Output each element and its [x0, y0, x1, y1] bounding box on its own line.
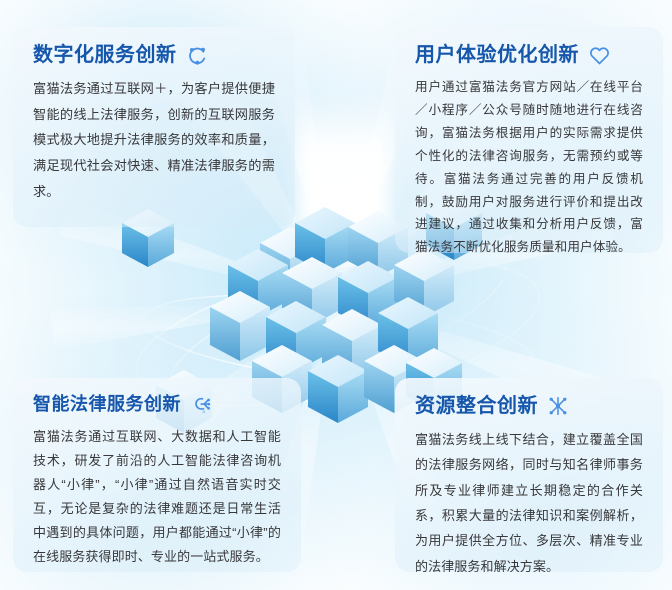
card-title: 数字化服务创新	[33, 43, 177, 67]
card-body: 富猫法务通过互联网＋，为客户提供便捷智能的线上法律服务，创新的互联网服务模式极大…	[33, 76, 275, 205]
card-body: 富猫法务线上线下结合，建立覆盖全国的法律服务网络，同时与知名律师事务所及专业律师…	[415, 427, 643, 572]
cloud-ai-icon	[190, 394, 214, 416]
card-intelligent-legal-service-innovation: 智能法律服务创新 富猫法务通过互联网、大数据和人工智能技术，研发了前沿的人工智能…	[13, 378, 301, 572]
card-user-experience-innovation: 用户体验优化创新 用户通过富猫法务官方网站／在线平台／小程序／公众号随时随地进行…	[395, 27, 663, 253]
node-network-icon	[547, 395, 569, 417]
card-body: 用户通过富猫法务官方网站／在线平台／小程序／公众号随时随地进行在线咨询，富猫法务…	[415, 76, 643, 253]
card-header: 数字化服务创新	[33, 43, 275, 67]
card-title: 资源整合创新	[415, 394, 538, 418]
card-digital-service-innovation: 数字化服务创新 富猫法务通过互联网＋，为客户提供便捷智能的线上法律服务，创新的互…	[13, 27, 295, 227]
page-root: 数字化服务创新 富猫法务通过互联网＋，为客户提供便捷智能的线上法律服务，创新的互…	[0, 0, 672, 590]
card-title: 智能法律服务创新	[33, 394, 181, 416]
network-circle-icon	[186, 44, 208, 66]
card-title: 用户体验优化创新	[415, 43, 579, 67]
card-resource-integration-innovation: 资源整合创新 富猫法务线上线下结合，建立覆盖全国的法律服务网络，同时与知名律师事…	[395, 378, 663, 572]
card-header: 资源整合创新	[415, 394, 643, 418]
heart-icon	[588, 44, 611, 67]
card-header: 用户体验优化创新	[415, 43, 643, 67]
card-body: 富猫法务通过互联网、大数据和人工智能技术，研发了前沿的人工智能法律咨询机器人“小…	[33, 425, 281, 569]
card-header: 智能法律服务创新	[33, 394, 281, 416]
